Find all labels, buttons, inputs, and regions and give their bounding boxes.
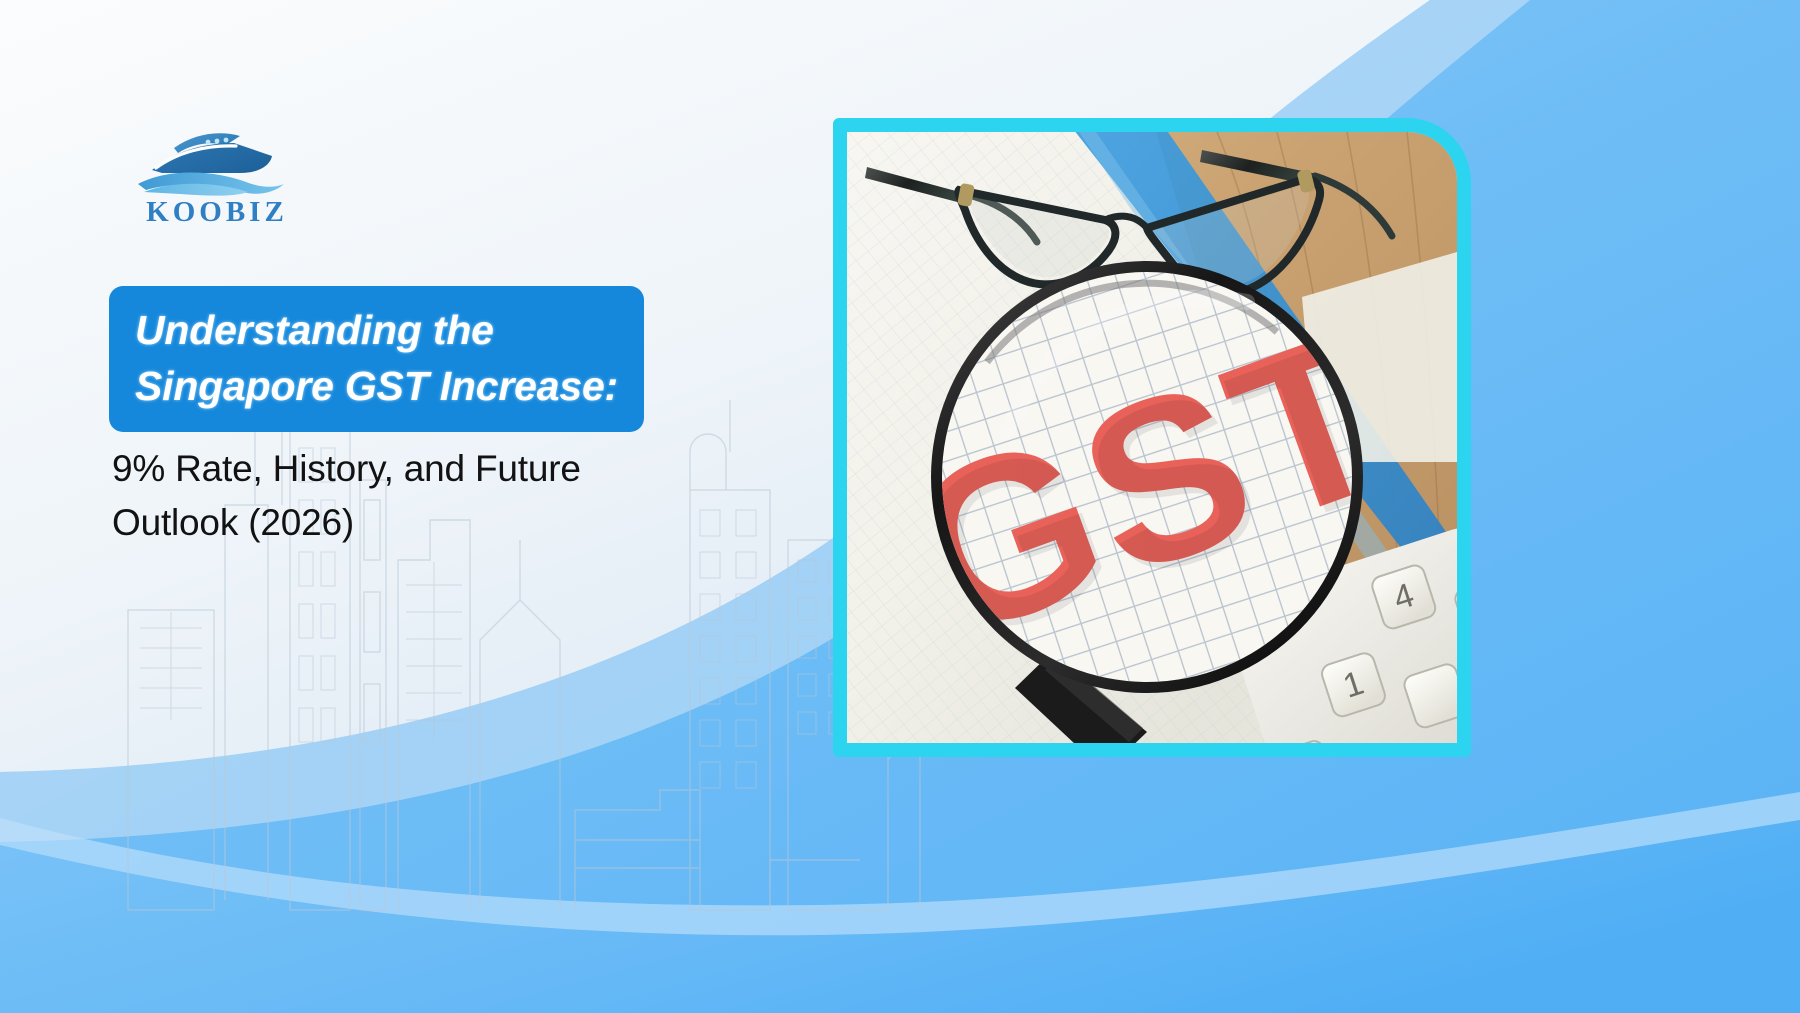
headline-line-1: Understanding the — [135, 302, 618, 358]
subtitle-line-2: Outlook (2026) — [112, 496, 752, 550]
hero-photo: 4 1 0 — [847, 132, 1457, 743]
brand-name: KOOBIZ — [112, 198, 322, 227]
ship-boat-waves-icon — [122, 126, 302, 198]
brand-logo[interactable]: KOOBIZ — [112, 126, 342, 238]
headline-line-2: Singapore GST Increase: — [135, 358, 618, 414]
subtitle-line-1: 9% Rate, History, and Future — [112, 442, 752, 496]
subtitle: 9% Rate, History, and Future Outlook (20… — [112, 442, 752, 551]
hero-photo-card: 4 1 0 — [833, 118, 1471, 757]
headline-highlight-box: Understanding the Singapore GST Increase… — [109, 286, 644, 432]
banner-canvas: KOOBIZ Understanding the Singapore GST I… — [0, 0, 1800, 1013]
